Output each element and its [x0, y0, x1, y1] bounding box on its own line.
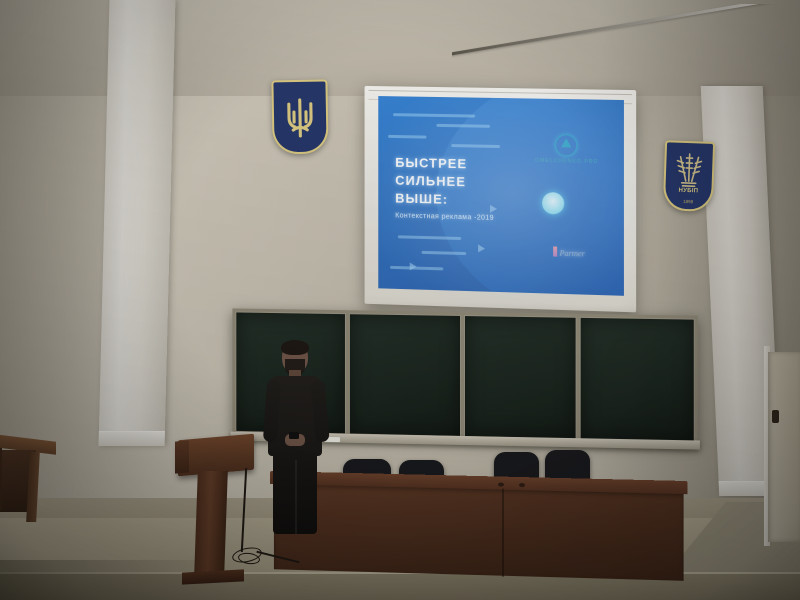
- phone-icon: [289, 432, 299, 439]
- slide-title-line-3: ВЫШЕ:: [395, 190, 467, 210]
- play-triangle-icon: [490, 204, 497, 212]
- partner-label: Partner: [560, 249, 585, 259]
- partner-bar-icon: [554, 247, 558, 257]
- presentation-slide: БЫСТРЕЕ СИЛЬНЕЕ ВЫШЕ: Контекстная реклам…: [378, 96, 624, 296]
- nubip-emblem-icon: НУБІП 1898: [663, 140, 711, 208]
- chalkboard-panel: [463, 315, 576, 440]
- brand-logo: OMELCHENKO.PRO: [525, 133, 609, 165]
- ukraine-coat-of-arms-icon: [271, 80, 324, 151]
- slide-title: БЫСТРЕЕ СИЛЬНЕЕ ВЫШЕ:: [395, 154, 467, 209]
- desk-seam: [502, 489, 504, 577]
- trident-icon: [285, 96, 316, 141]
- lectern-base: [182, 569, 244, 584]
- desk-front-panel: [274, 484, 684, 581]
- slide-title-line-1: БЫСТРЕЕ: [395, 154, 467, 173]
- brand-logo-icon: [556, 134, 578, 157]
- presenter: [258, 342, 332, 534]
- presenter-hair: [281, 340, 309, 355]
- play-triangle-icon: [410, 262, 417, 270]
- desk-cable-hole: [519, 483, 525, 487]
- presenter-leg-split: [295, 460, 297, 534]
- lecture-hall-photo: НУБІП 1898 БЫСТРЕЕ СИЛЬНЕЕ ВЫШЕ: Кон: [0, 0, 800, 600]
- side-table: [0, 438, 56, 524]
- long-desk: [270, 471, 688, 586]
- lectern-side-lip: [175, 440, 189, 473]
- wall-pilaster-left: [99, 0, 176, 446]
- projection-screen-frame: БЫСТРЕЕ СИЛЬНЕЕ ВЫШЕ: Контекстная реклам…: [365, 86, 637, 312]
- desk-cable-hole: [498, 483, 504, 487]
- chalkboard-panel: [349, 313, 461, 437]
- door-handle-icon[interactable]: [772, 410, 779, 423]
- side-table-leg: [0, 448, 2, 510]
- chalkboard-panel: [580, 317, 695, 442]
- door[interactable]: [768, 352, 800, 542]
- lectern-column: [194, 471, 228, 575]
- secondary-badge-icon: [542, 192, 564, 215]
- slide-title-line-2: СИЛЬНЕЕ: [395, 172, 467, 191]
- play-triangle-icon: [478, 245, 485, 253]
- lectern-top: [178, 434, 254, 477]
